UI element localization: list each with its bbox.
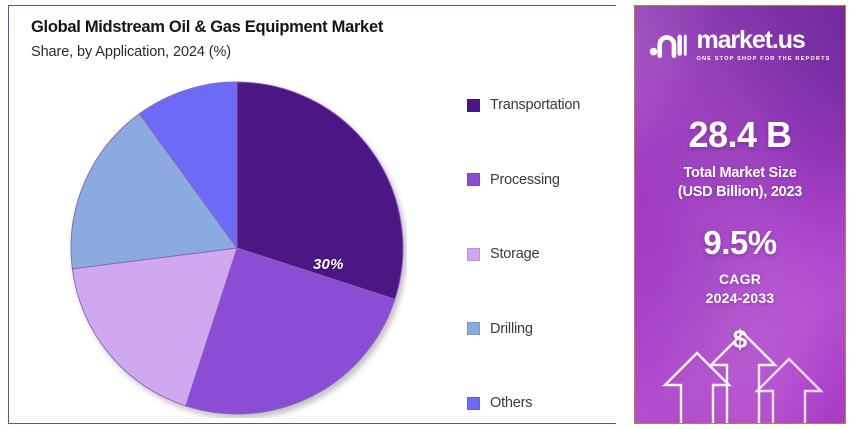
legend-item-others[interactable]: Others <box>467 366 616 424</box>
legend-item-label: Drilling <box>490 321 533 337</box>
market-size-label: Total Market Size(USD Billion), 2023 <box>635 164 845 202</box>
logo-tagline: ONE STOP SHOP FOR THE REPORTS <box>696 57 830 63</box>
brand-panel: market.us ONE STOP SHOP FOR THE REPORTS … <box>634 5 846 424</box>
market-size-value: 28.4 B <box>635 114 845 156</box>
chart-legend: TransportationProcessingStorageDrillingO… <box>467 68 616 424</box>
growth-arrows-icon <box>635 313 846 423</box>
pie-chart: 30% <box>67 78 407 418</box>
chart-subtitle: Share, by Application, 2024 (%) <box>31 44 591 60</box>
chart-panel: Global Midstream Oil & Gas Equipment Mar… <box>8 5 616 424</box>
pie-slices <box>71 82 403 414</box>
market-us-logo-icon <box>649 30 687 60</box>
legend-item-drilling[interactable]: Drilling <box>467 292 616 367</box>
cagr-value: 9.5% <box>635 224 845 262</box>
logo-text-block: market.us ONE STOP SHOP FOR THE REPORTS <box>696 28 830 63</box>
legend-item-storage[interactable]: Storage <box>467 217 616 292</box>
legend-swatch-icon <box>467 397 480 410</box>
legend-item-label: Processing <box>490 172 560 188</box>
cagr-label: CAGR2024-2033 <box>635 270 845 308</box>
legend-item-processing[interactable]: Processing <box>467 143 616 218</box>
pie-slice-label-transportation: 30% <box>313 256 344 273</box>
logo-wordmark: market.us <box>696 28 830 53</box>
legend-swatch-icon <box>467 173 480 186</box>
legend-swatch-icon <box>467 248 480 261</box>
legend-swatch-icon <box>467 322 480 335</box>
market-us-logo[interactable]: market.us ONE STOP SHOP FOR THE REPORTS <box>635 28 845 63</box>
page-title: Global Midstream Oil & Gas Equipment Mar… <box>31 18 591 37</box>
chart-header: Global Midstream Oil & Gas Equipment Mar… <box>31 18 591 60</box>
legend-item-transportation[interactable]: Transportation <box>467 68 616 143</box>
legend-swatch-icon <box>467 99 480 112</box>
legend-item-label: Transportation <box>490 97 580 113</box>
legend-item-label: Storage <box>490 246 539 262</box>
legend-item-label: Others <box>490 395 532 411</box>
pie-chart-svg <box>67 78 407 418</box>
